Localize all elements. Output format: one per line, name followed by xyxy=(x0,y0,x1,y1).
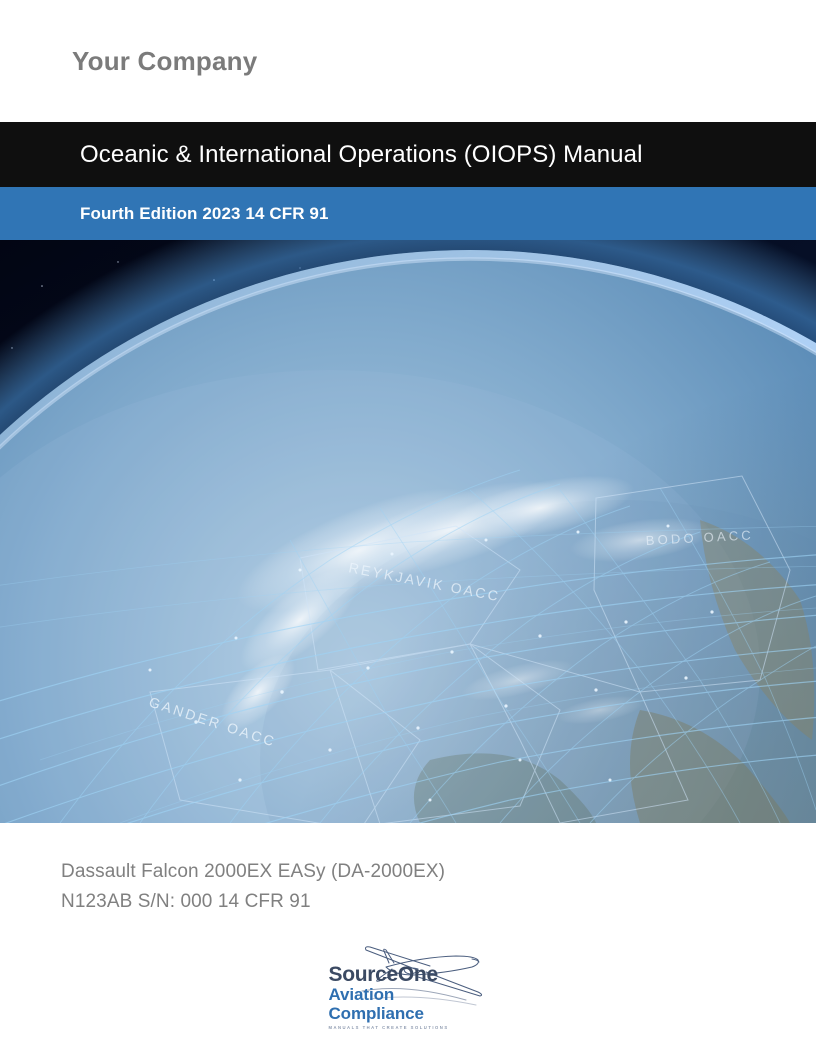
company-header-band: Your Company xyxy=(0,0,816,122)
sourceone-logo: SourceOne Aviation Compliance MANUALS TH… xyxy=(326,939,491,1011)
aircraft-registration: N123AB S/N: 000 14 CFR 91 xyxy=(61,887,816,917)
aircraft-model: Dassault Falcon 2000EX EASy (DA-2000EX) xyxy=(61,857,816,887)
globe-illustration: REYKJAVIK OACC BODO OACC GANDER OACC SHA… xyxy=(0,240,816,823)
logo-text-block: SourceOne Aviation Compliance MANUALS TH… xyxy=(329,964,491,1031)
aircraft-info-block: Dassault Falcon 2000EX EASy (DA-2000EX) … xyxy=(0,823,816,917)
edition-bar: Fourth Edition 2023 14 CFR 91 xyxy=(0,187,816,240)
company-name: Your Company xyxy=(72,46,257,77)
publisher-logo-area: SourceOne Aviation Compliance MANUALS TH… xyxy=(0,939,816,1011)
logo-tagline: MANUALS THAT CREATE SOLUTIONS xyxy=(329,1024,491,1031)
manual-title: Oceanic & International Operations (OIOP… xyxy=(80,141,643,169)
logo-brand-name: SourceOne xyxy=(329,964,491,985)
document-cover-page: Your Company Oceanic & International Ope… xyxy=(0,0,816,1056)
cover-photo: REYKJAVIK OACC BODO OACC GANDER OACC SHA… xyxy=(0,240,816,823)
edition-label: Fourth Edition 2023 14 CFR 91 xyxy=(80,204,329,224)
logo-brand-subtitle: Aviation Compliance xyxy=(329,985,491,1023)
manual-title-bar: Oceanic & International Operations (OIOP… xyxy=(0,122,816,187)
